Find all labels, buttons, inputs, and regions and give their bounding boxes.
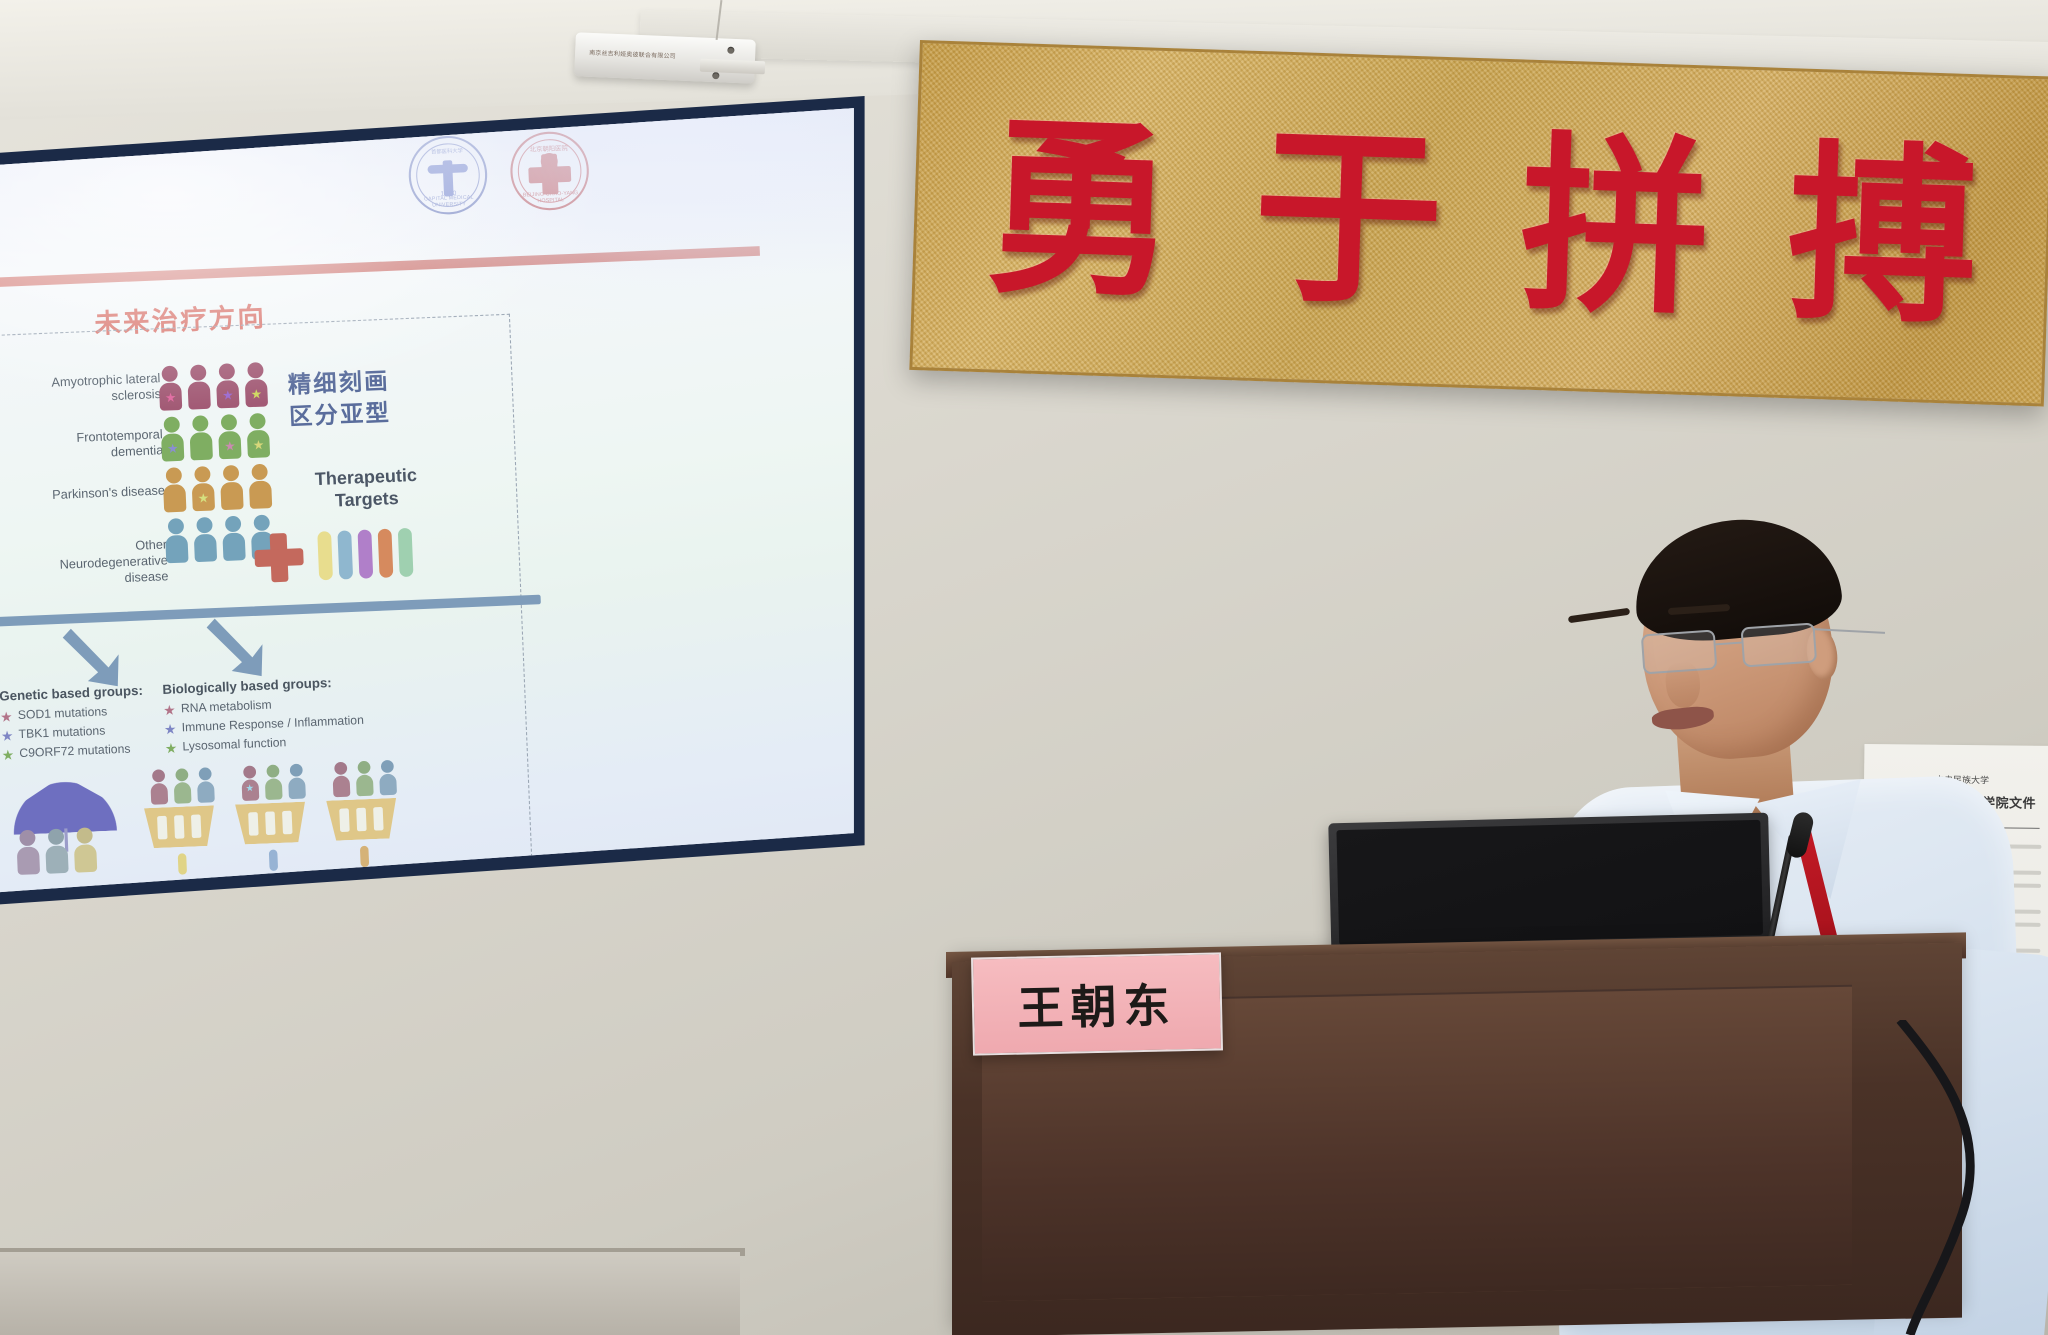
roller-brand-label: 南京丝吉利娅奥彼联合有限公司 — [589, 49, 676, 61]
speaker-name: 王朝东 — [1017, 969, 1177, 1038]
basket-people-row: ★ — [240, 763, 306, 800]
pill-icon — [398, 528, 414, 577]
glasses-temple — [1813, 628, 1885, 634]
basket-icon — [326, 798, 398, 847]
person-icon — [221, 516, 246, 561]
genetic-group-item: ★C9ORF72 mutations — [2, 742, 146, 762]
person-icon — [44, 828, 69, 873]
disease-label-list: Amyotrophic lateralsclerosis Frontotempo… — [0, 371, 170, 616]
star-icon: ★ — [2, 748, 15, 762]
people-row-ftd: ★ ★ ★ — [160, 413, 271, 462]
star-icon: ★ — [164, 722, 177, 736]
basket-icon — [235, 802, 307, 851]
cmu-logo-mark — [443, 160, 454, 196]
person-icon — [73, 827, 98, 872]
person-icon — [172, 768, 191, 803]
callout-line-2: 区分亚型 — [289, 397, 392, 433]
person-icon: ★ — [243, 362, 268, 407]
presentation-room-scene: 南京丝吉利娅奥彼联合有限公司 首都医科大学 1960 CAPITAL MEDIC… — [0, 0, 2048, 1335]
cyh-logo-cn-text: 北京朝阳医院 — [511, 142, 586, 155]
disease-label-ftd: Frontotemporaldementia — [0, 427, 164, 466]
speaker-eyebrow-left — [1568, 608, 1630, 624]
person-icon: ★ — [246, 413, 271, 458]
person-icon: ★ — [240, 765, 259, 800]
star-icon: ★ — [1, 729, 14, 743]
callout-line-1: 精细刻画 — [287, 365, 390, 401]
cmu-logo-cn-text: 首都医科大学 — [410, 146, 484, 156]
star-icon: ★ — [165, 741, 178, 755]
basket-people-row — [149, 767, 215, 804]
banner-char-1: 勇 — [983, 112, 1179, 308]
roller-bracket — [700, 59, 765, 75]
cyh-logo-dot — [540, 152, 558, 170]
person-icon — [188, 415, 213, 460]
roller-knob-3 — [712, 72, 719, 79]
biological-group-item: ★Lysosomal function — [165, 733, 365, 755]
slide-callout-chinese: 精细刻画 区分亚型 — [287, 365, 391, 432]
banner-characters: 勇 于 拼 搏 — [912, 43, 2048, 403]
arrow-down-right-icon — [206, 614, 283, 683]
cyh-logo-cross-vertical — [541, 154, 559, 195]
person-icon — [162, 467, 187, 512]
person-icon: ★ — [215, 363, 240, 408]
cmu-logo-en-text: CAPITAL MEDICAL UNIVERSITY — [412, 194, 487, 210]
power-cable — [1880, 1020, 2030, 1335]
person-icon — [164, 518, 189, 563]
person-icon — [286, 763, 305, 798]
arrow-down-left-icon — [60, 624, 137, 693]
wall-banner: 勇 于 拼 搏 — [909, 40, 2048, 406]
person-icon — [149, 769, 168, 804]
biological-group-item: ★Immune Response / Inflammation — [164, 714, 364, 736]
beijing-chaoyang-hospital-logo: 北京朝阳医院 BEIJING CHAO-YANG HOSPITAL — [509, 130, 591, 212]
pill-icon — [378, 529, 394, 578]
banner-char-3: 拼 — [1517, 130, 1713, 326]
slide-logo-row: 首都医科大学 1960 CAPITAL MEDICAL UNIVERSITY 北… — [407, 130, 590, 216]
person-icon — [219, 465, 244, 510]
cyh-logo-en-text: BEIJING CHAO-YANG HOSPITAL — [513, 190, 588, 206]
therapeutic-pill-row — [317, 528, 413, 581]
people-row-parkinsons: ★ — [162, 464, 273, 513]
person-icon — [193, 517, 218, 562]
banner-char-4: 搏 — [1785, 138, 1981, 334]
person-icon — [378, 760, 397, 795]
banner-char-2: 于 — [1250, 121, 1446, 317]
star-icon: ★ — [0, 710, 13, 724]
pill-icon — [337, 530, 353, 579]
disease-label-parkinsons: Parkinson's disease — [0, 483, 165, 506]
projector-screen-roller-case: 南京丝吉利娅奥彼联合有限公司 — [574, 32, 756, 83]
person-icon: ★ — [158, 365, 183, 410]
slide-header-rule — [0, 246, 760, 289]
speaker-nameplate: 王朝东 — [971, 952, 1223, 1055]
biological-group-item: ★RNA metabolism — [163, 695, 363, 717]
disease-label-als: Amyotrophic lateralsclerosis — [0, 371, 161, 410]
person-icon — [248, 464, 273, 509]
plus-icon — [254, 532, 305, 583]
person-icon — [263, 764, 282, 799]
person-icon: ★ — [217, 414, 242, 459]
genetic-group-item: ★SOD1 mutations — [0, 704, 144, 724]
pill-icon — [317, 531, 333, 580]
biologically-based-groups: Biologically based groups: ★RNA metaboli… — [162, 674, 365, 761]
genetic-group-item: ★TBK1 mutations — [1, 723, 145, 743]
disease-label-other: OtherNeurodegenerativedisease — [0, 537, 169, 592]
pill-icon — [357, 529, 373, 578]
person-icon — [15, 830, 40, 875]
person-icon — [354, 761, 373, 796]
person-icon — [186, 364, 211, 409]
cmu-logo-wings — [427, 164, 468, 174]
therapeutic-targets-label: Therapeutic Targets — [302, 463, 431, 513]
person-icon — [331, 762, 350, 797]
floor — [0, 1252, 740, 1335]
gene-basket-group-3: SQSTM1, VCP, TMEM106B, CHMP2B, OPTN, TBK… — [325, 760, 398, 803]
cyh-logo-cross-horizontal — [528, 166, 571, 184]
projection-screen[interactable]: 首都医科大学 1960 CAPITAL MEDICAL UNIVERSITY 北… — [0, 96, 870, 906]
people-row-als: ★ ★ ★ — [158, 362, 269, 411]
genetic-based-groups: Genetic based groups: ★SOD1 mutations ★T… — [0, 683, 146, 767]
person-icon — [195, 767, 214, 802]
slide-surface: 首都医科大学 1960 CAPITAL MEDICAL UNIVERSITY 北… — [0, 96, 870, 906]
basket-people-row — [331, 760, 397, 797]
people-row-under-umbrella — [15, 827, 97, 875]
basket-icon — [144, 805, 216, 854]
laptop-screen — [1336, 820, 1763, 945]
roller-knob-1 — [727, 47, 734, 54]
person-icon: ★ — [160, 416, 185, 461]
glasses-bridge — [1716, 642, 1742, 646]
star-icon: ★ — [163, 703, 176, 717]
capital-medical-university-logo: 首都医科大学 1960 CAPITAL MEDICAL UNIVERSITY — [407, 134, 489, 216]
gene-basket-group-2: ★ GRN, TREM2, TYROBP — [234, 763, 307, 806]
lens-right — [1741, 622, 1818, 667]
person-icon: ★ — [190, 466, 215, 511]
gene-basket-group-1: TARDBP, FUS, hnRNPA1, hnRNPA2B1, MATR3, … — [142, 767, 215, 810]
